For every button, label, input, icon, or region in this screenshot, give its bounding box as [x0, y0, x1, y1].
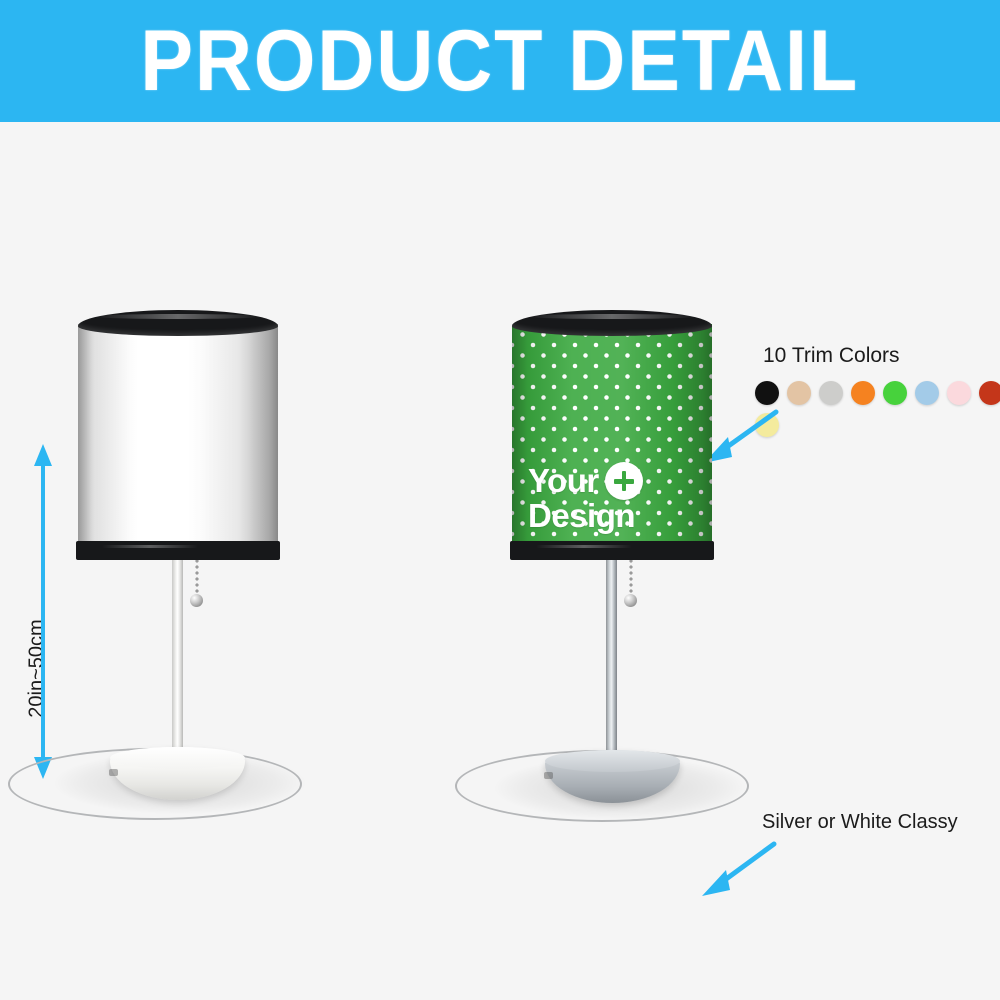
trim-colors-callout: 10 Trim Colors: [755, 344, 1000, 445]
lamp-green: Your Design: [440, 122, 780, 822]
product-illustration-stage: 7in~18cm 20in~50cm: [0, 122, 1000, 1000]
trim-band-bottom-green: [510, 541, 714, 560]
artwork-line-2: Design: [528, 500, 643, 533]
lampshade-white: [78, 310, 278, 560]
lamp-pole-white: [172, 552, 183, 767]
lampshade-green: Your Design: [512, 310, 712, 560]
trim-swatch-pink[interactable]: [947, 381, 971, 405]
trim-bottom-highlight-white: [102, 545, 198, 548]
shade-artwork: Your Design: [528, 462, 643, 533]
lamp-base-top-white: [110, 747, 245, 769]
trim-swatch-tan[interactable]: [787, 381, 811, 405]
page-title: PRODUCT DETAIL: [141, 18, 860, 104]
artwork-text-design: Design: [528, 500, 635, 533]
lamp-pole-silver: [606, 552, 617, 767]
trim-swatch-row-2: [755, 413, 1000, 437]
trim-top-highlight-white: [94, 314, 262, 319]
trim-swatch-green[interactable]: [883, 381, 907, 405]
trim-swatch-light-gray[interactable]: [819, 381, 843, 405]
pull-chain-ball-green[interactable]: [624, 594, 637, 607]
lampshade-shading-white: [78, 324, 278, 548]
trim-swatch-light-blue[interactable]: [915, 381, 939, 405]
trim-top-highlight-green: [528, 314, 696, 319]
base-cord-port-silver: [544, 772, 553, 779]
trim-swatch-dark-red[interactable]: [979, 381, 1000, 405]
header-banner: PRODUCT DETAIL: [0, 0, 1000, 122]
trim-bottom-highlight-green: [536, 545, 632, 548]
plus-icon: [605, 462, 643, 500]
base-finish-label: Silver or White Classy: [762, 811, 958, 834]
trim-band-bottom-white: [76, 541, 280, 560]
lampshade-body-white: [78, 324, 278, 548]
trim-swatch-row-1: [755, 381, 1000, 405]
base-finish-pointer-arrow: [696, 838, 780, 905]
dimension-arrow-height: [32, 444, 54, 784]
trim-swatch-black[interactable]: [755, 381, 779, 405]
pull-chain-ball-white[interactable]: [190, 594, 203, 607]
artwork-text-your: Your: [528, 465, 599, 498]
lamp-base-top-silver: [545, 750, 680, 772]
artwork-line-1: Your: [528, 462, 643, 500]
trim-swatch-orange[interactable]: [851, 381, 875, 405]
trim-colors-title: 10 Trim Colors: [763, 344, 1000, 368]
base-cord-port-white: [109, 769, 118, 776]
lampshade-body-green: Your Design: [512, 324, 712, 548]
